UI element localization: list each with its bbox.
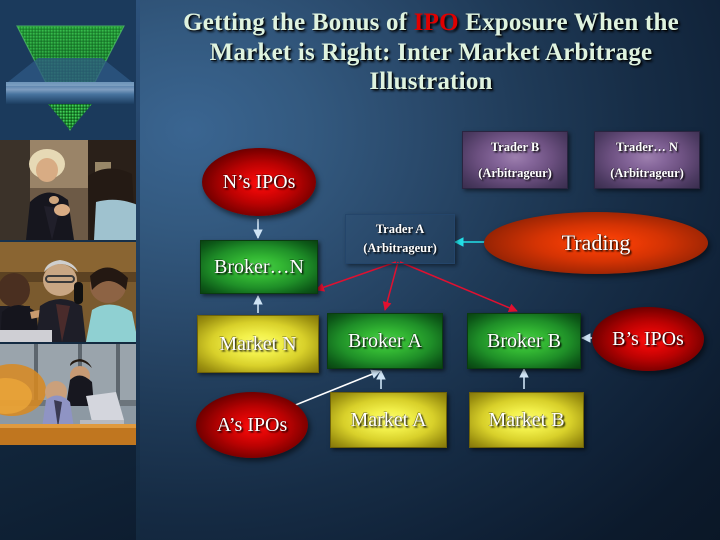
node-broker-b-label: Broker B: [468, 330, 580, 353]
green-inverted-triangle-logo: [0, 0, 140, 140]
node-market-n[interactable]: Market N: [197, 315, 319, 373]
node-trader-b-label: Trader B: [463, 134, 567, 160]
node-as-ipos[interactable]: A’s IPOs: [196, 392, 308, 458]
title-part-1: Getting the Bonus of: [183, 9, 414, 36]
node-broker-n-label: Broker…N: [201, 256, 317, 279]
node-trader-a[interactable]: Trader A (Arbitrageur): [345, 214, 455, 264]
node-trader-b-sublabel: (Arbitrageur): [463, 160, 567, 186]
node-trader-n-sublabel: (Arbitrageur): [595, 160, 699, 186]
title-highlight-ipo: IPO: [414, 9, 459, 36]
node-broker-a-label: Broker A: [328, 330, 442, 353]
node-bs-ipos-label: B’s IPOs: [592, 328, 704, 351]
photo-businesswoman-meeting: [0, 140, 140, 240]
node-market-n-label: Market N: [198, 333, 318, 356]
node-broker-b[interactable]: Broker B: [467, 313, 581, 369]
photo-office-laptop-discussion: [0, 344, 140, 445]
photo-team-on-phone: [0, 242, 140, 342]
node-trader-n[interactable]: Trader… N (Arbitrageur): [594, 131, 700, 189]
sidebar-edge: [136, 0, 140, 540]
node-market-b[interactable]: Market B: [469, 392, 584, 448]
node-trader-n-label: Trader… N: [595, 134, 699, 160]
node-market-b-label: Market B: [470, 409, 583, 432]
node-broker-n[interactable]: Broker…N: [200, 240, 318, 294]
left-decoration-sidebar: [0, 0, 140, 540]
node-broker-a[interactable]: Broker A: [327, 313, 443, 369]
node-ns-ipos-label: N’s IPOs: [202, 171, 316, 194]
node-market-a[interactable]: Market A: [330, 392, 447, 448]
node-trader-a-sublabel: (Arbitrageur): [346, 239, 454, 258]
node-trader-a-label: Trader A: [346, 220, 454, 239]
node-trader-b[interactable]: Trader B (Arbitrageur): [462, 131, 568, 189]
page-title: Getting the Bonus of IPO Exposure When t…: [148, 8, 714, 97]
node-market-a-label: Market A: [331, 409, 446, 432]
node-ns-ipos[interactable]: N’s IPOs: [202, 148, 316, 216]
node-trading-label: Trading: [484, 230, 708, 256]
node-trading[interactable]: Trading: [484, 212, 708, 274]
slide-canvas: Getting the Bonus of IPO Exposure When t…: [0, 0, 720, 540]
node-as-ipos-label: A’s IPOs: [196, 414, 308, 437]
node-bs-ipos[interactable]: B’s IPOs: [592, 307, 704, 371]
